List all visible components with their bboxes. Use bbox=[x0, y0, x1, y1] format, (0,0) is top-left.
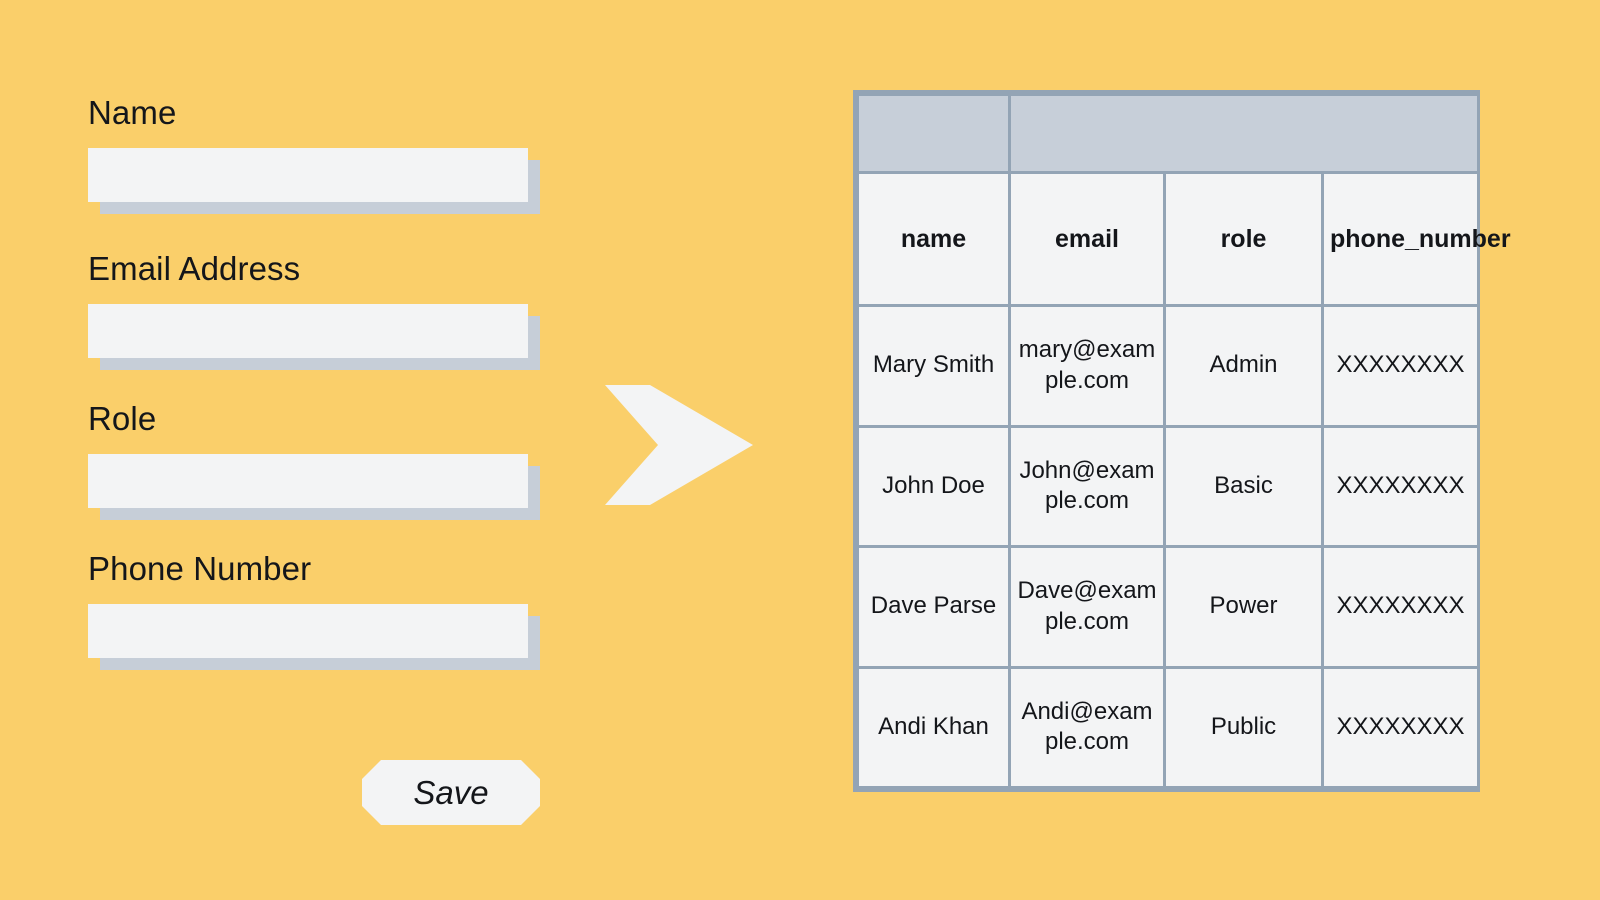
table-header-row: name email role phone_number bbox=[858, 173, 1479, 306]
cell-name: John Doe bbox=[858, 426, 1010, 547]
table-banner-row bbox=[858, 95, 1479, 173]
cell-role: Power bbox=[1165, 547, 1323, 668]
table-row[interactable]: John Doe John@example.com Basic XXXXXXXX bbox=[858, 426, 1479, 547]
save-button[interactable]: Save bbox=[362, 760, 540, 825]
cell-email: mary@example.com bbox=[1010, 306, 1165, 427]
cell-phone-number: XXXXXXXX bbox=[1323, 306, 1479, 427]
chevron-right-arrow-icon bbox=[605, 385, 753, 505]
column-header-name[interactable]: name bbox=[858, 173, 1010, 306]
field-group-name: Name bbox=[88, 96, 528, 202]
cell-name: Andi Khan bbox=[858, 667, 1010, 788]
label-email-address: Email Address bbox=[88, 252, 528, 285]
cell-email: Dave@example.com bbox=[1010, 547, 1165, 668]
users-table-grid: name email role phone_number Mary Smith … bbox=[856, 93, 1480, 789]
column-header-email[interactable]: email bbox=[1010, 173, 1165, 306]
banner-cell-left bbox=[858, 95, 1010, 173]
table-row[interactable]: Dave Parse Dave@example.com Power XXXXXX… bbox=[858, 547, 1479, 668]
cell-email: Andi@example.com bbox=[1010, 667, 1165, 788]
banner-cell-right bbox=[1010, 95, 1479, 173]
label-role: Role bbox=[88, 402, 528, 435]
table-row[interactable]: Andi Khan Andi@example.com Public XXXXXX… bbox=[858, 667, 1479, 788]
role-input[interactable] bbox=[88, 454, 528, 508]
cell-role: Basic bbox=[1165, 426, 1323, 547]
cell-role: Admin bbox=[1165, 306, 1323, 427]
cell-email: John@example.com bbox=[1010, 426, 1165, 547]
field-group-phone-number: Phone Number bbox=[88, 552, 528, 658]
cell-phone-number: XXXXXXXX bbox=[1323, 667, 1479, 788]
users-table: name email role phone_number Mary Smith … bbox=[853, 90, 1480, 792]
cell-name: Dave Parse bbox=[858, 547, 1010, 668]
input-wrap-name bbox=[88, 148, 528, 202]
label-name: Name bbox=[88, 96, 528, 129]
input-wrap-email bbox=[88, 304, 528, 358]
table-row[interactable]: Mary Smith mary@example.com Admin XXXXXX… bbox=[858, 306, 1479, 427]
table-head: name email role phone_number bbox=[858, 95, 1479, 306]
table-body: Mary Smith mary@example.com Admin XXXXXX… bbox=[858, 306, 1479, 788]
input-wrap-role bbox=[88, 454, 528, 508]
name-input[interactable] bbox=[88, 148, 528, 202]
column-header-phone-number[interactable]: phone_number bbox=[1323, 173, 1479, 306]
cell-name: Mary Smith bbox=[858, 306, 1010, 427]
cell-phone-number: XXXXXXXX bbox=[1323, 547, 1479, 668]
field-group-email: Email Address bbox=[88, 252, 528, 358]
cell-phone-number: XXXXXXXX bbox=[1323, 426, 1479, 547]
label-phone-number: Phone Number bbox=[88, 552, 528, 585]
email-input[interactable] bbox=[88, 304, 528, 358]
field-group-role: Role bbox=[88, 402, 528, 508]
cell-role: Public bbox=[1165, 667, 1323, 788]
column-header-role[interactable]: role bbox=[1165, 173, 1323, 306]
phone-number-input[interactable] bbox=[88, 604, 528, 658]
input-wrap-phone bbox=[88, 604, 528, 658]
